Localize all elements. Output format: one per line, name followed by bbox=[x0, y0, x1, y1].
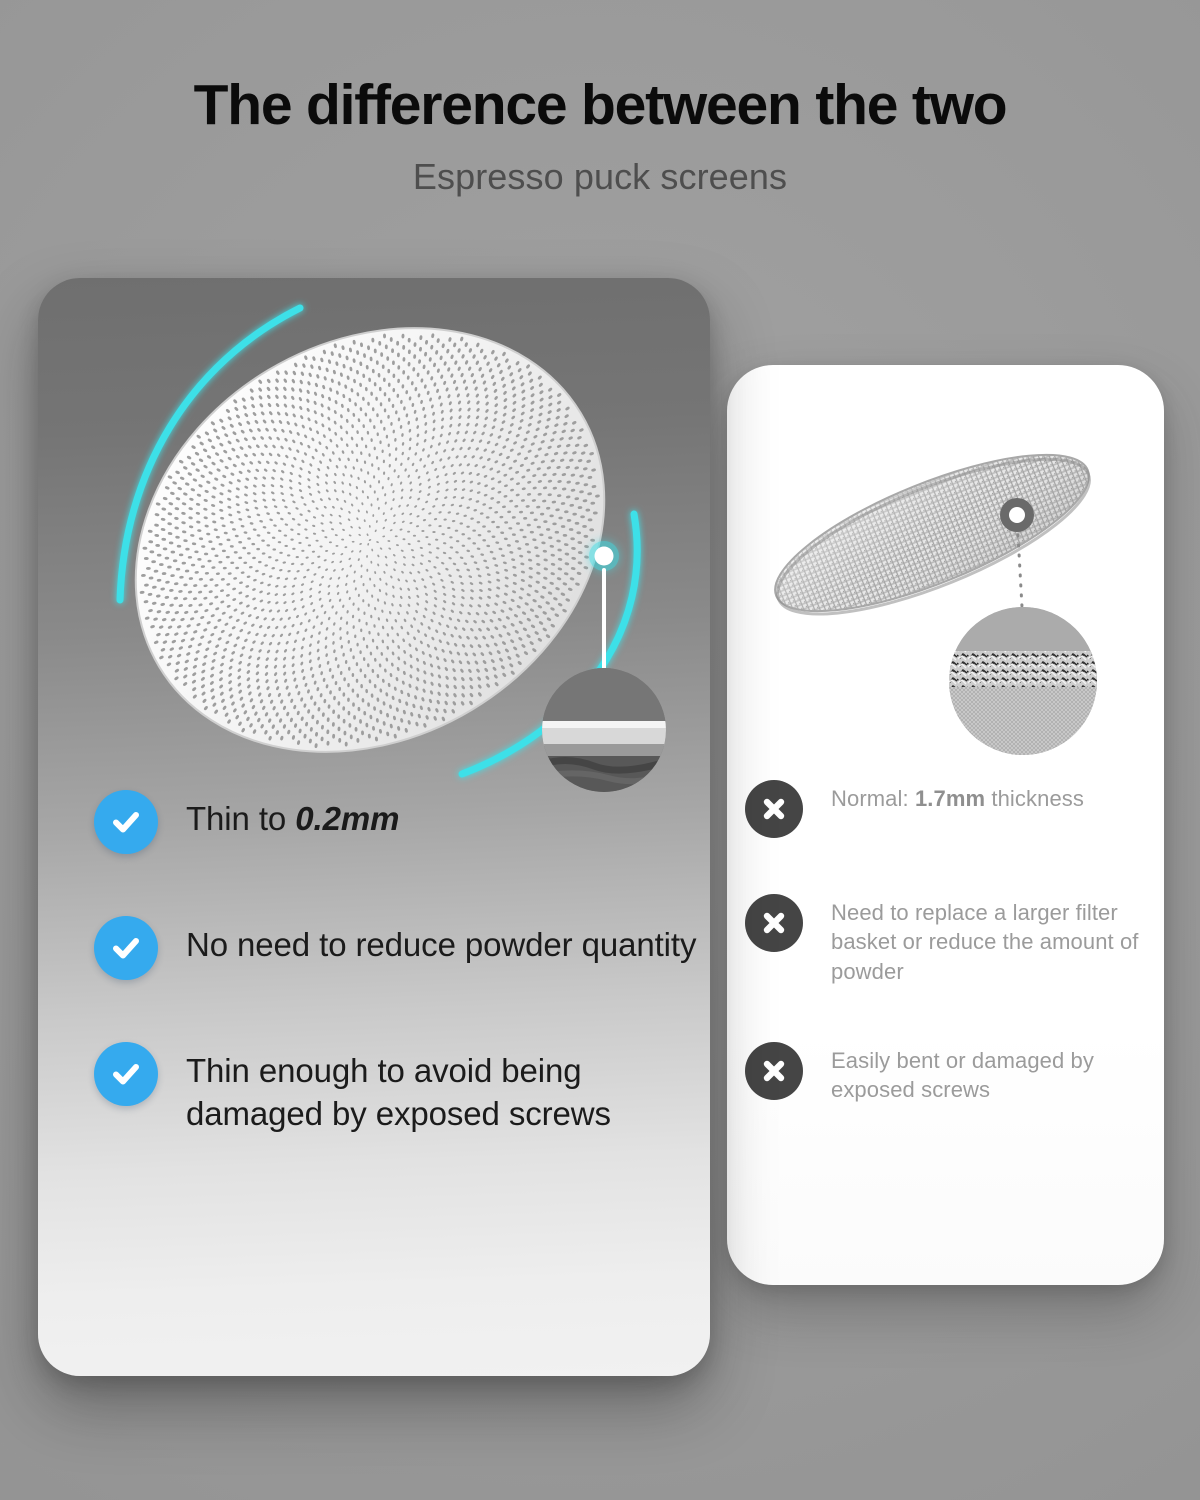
normal-screen-card: Normal: 1.7mm thickness Need to replace … bbox=[727, 365, 1164, 1285]
page-title: The difference between the two bbox=[0, 76, 1200, 135]
accent-arc-upper bbox=[120, 308, 300, 600]
normal-screen-feature-list: Normal: 1.7mm thickness Need to replace … bbox=[745, 780, 1155, 1104]
list-item: No need to reduce powder quantity bbox=[94, 916, 704, 980]
list-item: Thin enough to avoid being damaged by ex… bbox=[94, 1042, 704, 1136]
check-icon bbox=[94, 790, 158, 854]
list-item: Need to replace a larger filter basket o… bbox=[745, 894, 1155, 986]
check-icon bbox=[94, 1042, 158, 1106]
list-item-label: Easily bent or damaged by exposed screws bbox=[831, 1042, 1155, 1105]
thin-screen-feature-list: Thin to 0.2mm No need to reduce powder q… bbox=[94, 790, 704, 1136]
cross-icon bbox=[745, 780, 803, 838]
page-subtitle: Espresso puck screens bbox=[0, 157, 1200, 197]
accent-arc-lower bbox=[462, 514, 637, 774]
list-item-label: Need to replace a larger filter basket o… bbox=[831, 894, 1155, 986]
cross-icon bbox=[745, 894, 803, 952]
list-item-label: Normal: 1.7mm thickness bbox=[831, 780, 1084, 813]
puck-plate bbox=[57, 278, 683, 798]
list-item-label: Thin to 0.2mm bbox=[186, 790, 399, 841]
magnifier-thick-cross-section bbox=[949, 607, 1097, 757]
callout-marker-left bbox=[589, 541, 619, 571]
list-item-label: Thin enough to avoid being damaged by ex… bbox=[186, 1042, 704, 1136]
callout-marker-right bbox=[1000, 498, 1034, 532]
woven-mesh-puck-screen-illustration bbox=[727, 365, 1164, 795]
header: The difference between the two Espresso … bbox=[0, 76, 1200, 197]
check-icon bbox=[94, 916, 158, 980]
spiral-puck-screen-illustration bbox=[38, 278, 710, 798]
list-item: Thin to 0.2mm bbox=[94, 790, 704, 854]
cross-icon bbox=[745, 1042, 803, 1100]
thin-screen-card: Thin to 0.2mm No need to reduce powder q… bbox=[38, 278, 710, 1376]
list-item-label: No need to reduce powder quantity bbox=[186, 916, 696, 967]
list-item: Easily bent or damaged by exposed screws bbox=[745, 1042, 1155, 1105]
list-item: Normal: 1.7mm thickness bbox=[745, 780, 1155, 838]
comparison-infographic: The difference between the two Espresso … bbox=[0, 0, 1200, 1500]
magnifier-thin-cross-section bbox=[542, 668, 666, 796]
